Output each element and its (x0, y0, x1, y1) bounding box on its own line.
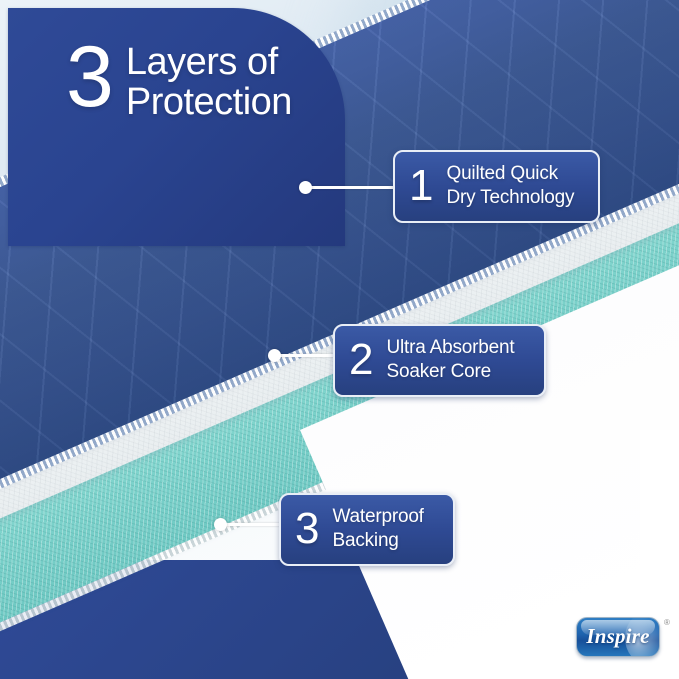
leader-line-2 (274, 354, 335, 357)
callout-text-3: Waterproof Backing (332, 505, 423, 551)
callout-number-2: 2 (349, 338, 373, 382)
leader-dot-1 (299, 181, 312, 194)
callout-line-3a: Waterproof (332, 505, 423, 528)
callout-line-2b: Soaker Core (386, 360, 514, 383)
callout-number-1: 1 (409, 164, 433, 208)
callout-text-2: Ultra Absorbent Soaker Core (386, 336, 514, 382)
title-banner: 3 Layers of Protection (8, 8, 345, 246)
callout-line-3b: Backing (332, 529, 423, 552)
callout-line-1b: Dry Technology (446, 186, 574, 209)
leader-line-1 (305, 186, 395, 189)
callout-line-2a: Ultra Absorbent (386, 336, 514, 359)
callout-quilted-quick-dry-technology: 1 Quilted Quick Dry Technology (393, 150, 600, 223)
leader-line-3 (220, 523, 281, 526)
callout-number-3: 3 (295, 507, 319, 551)
callout-waterproof-backing: 3 Waterproof Backing (279, 493, 455, 566)
title-text-group: 3 Layers of Protection (66, 36, 292, 123)
callout-line-1a: Quilted Quick (446, 162, 574, 185)
brand-logo: Inspire ® (576, 617, 660, 657)
registered-trademark-symbol: ® (664, 618, 670, 627)
leader-dot-3 (214, 518, 227, 531)
leader-dot-2 (268, 349, 281, 362)
callout-text-1: Quilted Quick Dry Technology (446, 162, 574, 208)
title-number: 3 (66, 38, 112, 117)
title-line-2: Protection (126, 82, 292, 122)
product-infographic: 3 Layers of Protection 1 Quilted Quick D… (0, 0, 679, 679)
title-lines: Layers of Protection (126, 36, 292, 123)
title-line-1: Layers of (126, 42, 292, 82)
logo-text: Inspire (576, 617, 660, 657)
callout-ultra-absorbent-soaker-core: 2 Ultra Absorbent Soaker Core (333, 324, 546, 397)
